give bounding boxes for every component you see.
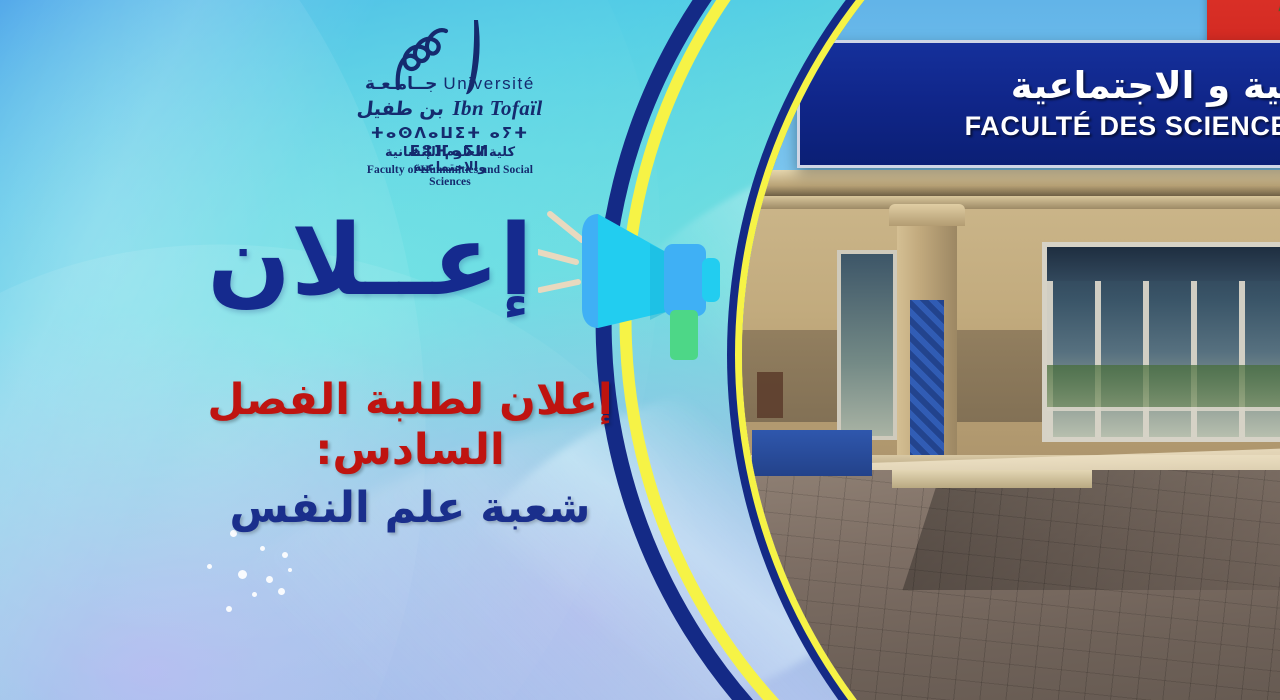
bubble-decoration xyxy=(190,530,330,640)
logo-english-faculty: Faculty of Humanities and Social Science… xyxy=(352,164,548,188)
courtyard-greenery xyxy=(1047,365,1280,407)
plaza-shadow xyxy=(903,470,1280,590)
signboard-arabic-text: كلية العلوم الإنسانية و الاجتماعية xyxy=(1011,66,1280,107)
logo-french-university: Université xyxy=(443,74,535,94)
entrance-step xyxy=(892,470,1092,488)
tiled-bench xyxy=(752,430,872,476)
message-line-1: إعلان لطلبة الفصل السادس: xyxy=(110,375,710,475)
cornice-upper xyxy=(742,170,1280,196)
megaphone-body xyxy=(664,244,706,316)
logo-name-line: بن طفيل Ibn Tofaïl xyxy=(352,96,548,121)
megaphone-icon xyxy=(538,196,728,371)
entrance-transom xyxy=(1047,247,1280,281)
logo-arabic-university: جــامـعـة xyxy=(365,74,437,94)
megaphone-handle xyxy=(670,310,698,360)
message-line-2: شعبة علم النفس xyxy=(110,483,710,533)
side-door-left xyxy=(837,250,897,440)
panel-star-glyph: ★ xyxy=(1267,0,1280,21)
main-entrance-glass-doors xyxy=(1042,242,1280,442)
logo-university-line: جــامـعـة Université xyxy=(352,74,548,94)
faculty-signboard: كلية العلوم الإنسانية و الاجتماعية FACUL… xyxy=(797,40,1280,168)
megaphone-cone-shade xyxy=(650,244,666,320)
university-logo: جــامـعـة Université بن طفيل Ibn Tofaïl … xyxy=(352,12,548,180)
megaphone-cone-back xyxy=(582,214,598,328)
faculty-photo-content: ★ ★ كلية العلوم الإنسانية و الاجتماعية F… xyxy=(742,0,1280,700)
cornice-lower xyxy=(742,196,1280,209)
megaphone-sound-rays xyxy=(538,214,582,290)
column-capital xyxy=(889,204,965,226)
zellige-tile-left xyxy=(910,300,944,460)
faculty-photo: ★ ★ كلية العلوم الإنسانية و الاجتماعية F… xyxy=(742,0,1280,700)
logo-french-name: Ibn Tofaïl xyxy=(452,96,542,121)
logo-arabic-name: بن طفيل xyxy=(356,98,445,120)
chair xyxy=(757,372,783,418)
announcement-poster: ★ ★ كلية العلوم الإنسانية و الاجتماعية F… xyxy=(0,0,1280,700)
headline-announcement: إعــلان xyxy=(190,205,550,325)
signboard-french-text: FACULTÉ DES SCIENCES HUMAINES ET SOCIALE… xyxy=(965,111,1280,142)
megaphone-end-cap xyxy=(702,258,720,302)
